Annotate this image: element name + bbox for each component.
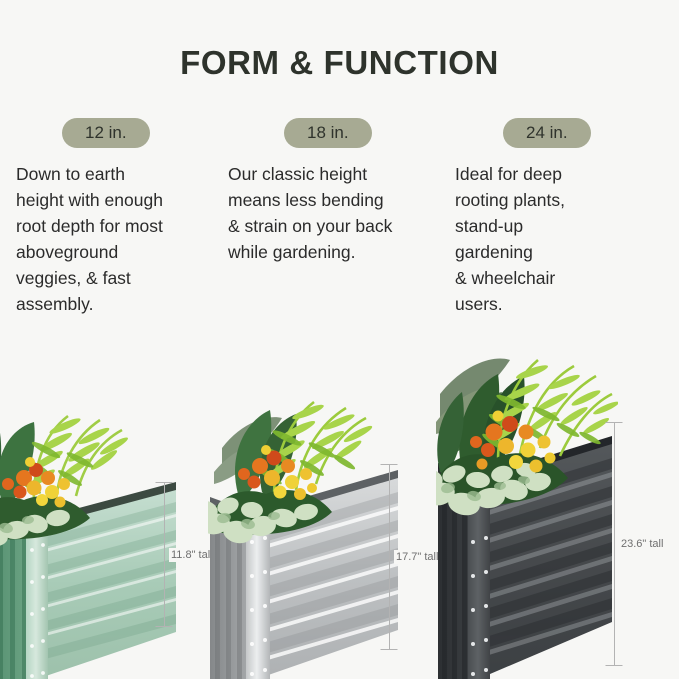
product-photo-silver-bed: 17.7" tall xyxy=(208,352,404,679)
dimension-cap-bottom xyxy=(156,626,173,627)
dimension-callout-11-8: 11.8" tall xyxy=(145,482,183,627)
badge-wrap-18in: 18 in. xyxy=(228,118,428,148)
dimension-line xyxy=(614,422,615,666)
infographic-canvas: FORM & FUNCTION 12 in. Down to earth hei… xyxy=(0,0,679,679)
size-badge-12in: 12 in. xyxy=(62,118,150,148)
feature-column-12in: 12 in. Down to earth height with enough … xyxy=(16,118,206,317)
feature-column-18in: 18 in. Our classic height means less ben… xyxy=(228,118,428,265)
dimension-label-23-6: 23.6" tall xyxy=(619,537,665,551)
feature-description-18in: Our classic height means less bending & … xyxy=(228,161,428,265)
dimension-cap-top xyxy=(156,482,173,483)
dimension-cap-top xyxy=(606,422,623,423)
size-badge-24in: 24 in. xyxy=(503,118,591,148)
dimension-callout-17-7: 17.7" tall xyxy=(370,464,408,650)
product-photo-charcoal-bed: 23.6" tall xyxy=(436,322,618,679)
dimension-cap-bottom xyxy=(606,665,623,666)
feature-column-24in: 24 in. Ideal for deep rooting plants, st… xyxy=(455,118,655,317)
badge-wrap-24in: 24 in. xyxy=(455,118,655,148)
page-title: FORM & FUNCTION xyxy=(0,44,679,82)
feature-description-24in: Ideal for deep rooting plants, stand-up … xyxy=(455,161,655,317)
product-photo-sage-green-bed: 11.8" tall xyxy=(0,360,184,679)
dimension-line xyxy=(389,464,390,650)
size-badge-18in: 18 in. xyxy=(284,118,372,148)
dimension-line xyxy=(164,482,165,627)
badge-wrap-12in: 12 in. xyxy=(16,118,206,148)
dimension-cap-bottom xyxy=(381,649,398,650)
planter-illustration-charcoal xyxy=(436,322,618,679)
feature-description-12in: Down to earth height with enough root de… xyxy=(16,161,206,317)
dimension-label-17-7: 17.7" tall xyxy=(394,550,440,564)
planter-corner-post-green xyxy=(26,522,48,679)
dimension-callout-23-6: 23.6" tall xyxy=(594,422,634,666)
dimension-cap-top xyxy=(381,464,398,465)
